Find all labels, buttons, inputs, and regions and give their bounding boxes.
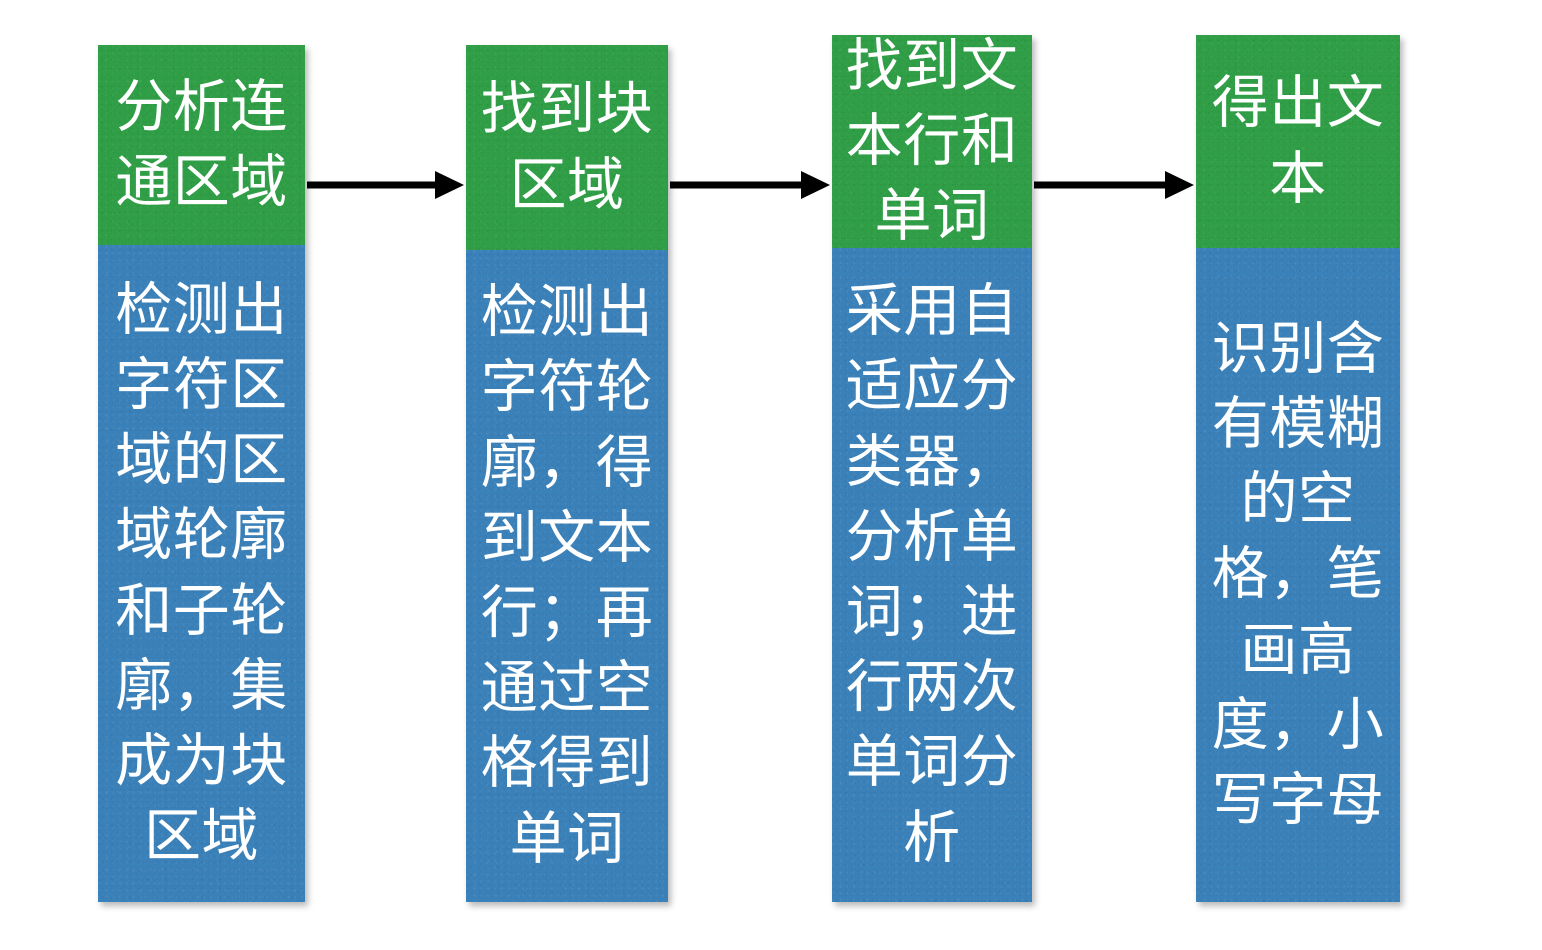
flow-node-1[interactable]: 分析连通区域 检测出字符区域的区域轮廓和子轮廓，集成为块区域 bbox=[98, 45, 305, 902]
flow-node-1-body: 检测出字符区域的区域轮廓和子轮廓，集成为块区域 bbox=[98, 245, 305, 902]
flow-node-3[interactable]: 找到文本行和单词 采用自适应分类器，分析单词；进行两次单词分析 bbox=[832, 35, 1032, 902]
flow-node-3-body: 采用自适应分类器，分析单词；进行两次单词分析 bbox=[832, 248, 1032, 902]
flow-node-4-description: 识别含有模糊的空格，笔画高度，小写字母 bbox=[1196, 312, 1400, 839]
flow-node-2-body: 检测出字符轮廓，得到文本行；再通过空格得到单词 bbox=[466, 250, 668, 902]
flow-arrow-1 bbox=[305, 165, 466, 205]
flow-node-4-title: 得出文本 bbox=[1196, 66, 1400, 216]
flow-node-2-description: 检测出字符轮廓，得到文本行；再通过空格得到单词 bbox=[466, 275, 668, 877]
flow-node-4[interactable]: 得出文本 识别含有模糊的空格，笔画高度，小写字母 bbox=[1196, 35, 1400, 902]
flow-node-3-description: 采用自适应分类器，分析单词；进行两次单词分析 bbox=[832, 274, 1032, 876]
flow-node-3-header: 找到文本行和单词 bbox=[832, 35, 1032, 248]
flow-node-1-header: 分析连通区域 bbox=[98, 45, 305, 245]
flow-arrow-3 bbox=[1032, 165, 1196, 205]
flow-node-2-title: 找到块区域 bbox=[466, 72, 668, 222]
flow-node-3-title: 找到文本行和单词 bbox=[832, 35, 1032, 254]
flow-node-1-description: 检测出字符区域的区域轮廓和子轮廓，集成为块区域 bbox=[98, 273, 305, 875]
flow-arrow-2 bbox=[668, 165, 832, 205]
flow-node-2[interactable]: 找到块区域 检测出字符轮廓，得到文本行；再通过空格得到单词 bbox=[466, 45, 668, 902]
flowchart-diagram: 分析连通区域 检测出字符区域的区域轮廓和子轮廓，集成为块区域 找到块区域 检测出… bbox=[0, 0, 1542, 950]
flow-node-2-header: 找到块区域 bbox=[466, 45, 668, 250]
flow-node-4-header: 得出文本 bbox=[1196, 35, 1400, 248]
flow-node-4-body: 识别含有模糊的空格，笔画高度，小写字母 bbox=[1196, 248, 1400, 902]
flow-node-1-title: 分析连通区域 bbox=[98, 70, 305, 220]
